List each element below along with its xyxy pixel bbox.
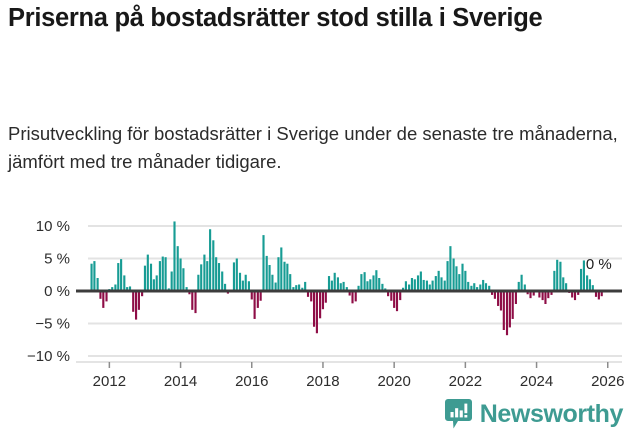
bar	[512, 291, 514, 319]
y-tick-label: −10 %	[27, 348, 70, 365]
bar	[328, 276, 330, 291]
bar	[351, 291, 353, 303]
bar	[283, 262, 285, 291]
bar	[544, 291, 546, 304]
bar	[556, 260, 558, 291]
bar	[165, 257, 167, 291]
bar	[438, 271, 440, 291]
bar	[393, 291, 395, 308]
bar	[360, 274, 362, 291]
bar	[138, 291, 140, 310]
bar	[93, 261, 95, 291]
newsworthy-wordmark: Newsworthy	[480, 402, 623, 427]
bar	[177, 246, 179, 291]
bar	[97, 278, 99, 291]
bar-chart: 20122014201620182020202220242026 10 %5 %…	[0, 208, 631, 393]
bar	[319, 291, 321, 318]
bar	[233, 262, 235, 291]
bar	[316, 291, 318, 333]
bar	[372, 275, 374, 291]
bar	[337, 277, 339, 291]
bar	[203, 255, 205, 291]
x-tick-label: 2014	[164, 373, 197, 390]
bar	[173, 221, 175, 291]
page-subtitle: Prisutveckling för bostadsrätter i Sveri…	[8, 120, 631, 176]
bar	[453, 259, 455, 292]
bar	[90, 264, 92, 291]
bar	[435, 276, 437, 291]
bar	[355, 291, 357, 301]
bar	[257, 291, 259, 308]
bar	[461, 264, 463, 291]
bar	[322, 291, 324, 309]
chart-svg: 20122014201620182020202220242026 10 %5 %…	[0, 208, 631, 393]
bar	[262, 235, 264, 291]
bar	[449, 246, 451, 291]
bar	[464, 271, 466, 291]
bar	[515, 291, 517, 304]
bar	[553, 271, 555, 291]
bar	[194, 291, 196, 313]
bar	[218, 263, 220, 291]
x-tick-label: 2018	[306, 373, 339, 390]
chart-bars	[90, 221, 602, 335]
bar	[364, 272, 366, 291]
bar	[215, 257, 217, 291]
bar	[123, 275, 125, 291]
bar	[266, 256, 268, 291]
bar	[589, 279, 591, 291]
chart-y-axis-labels: 10 %5 %0 %−5 %−10 %	[27, 218, 70, 365]
bar	[440, 277, 442, 291]
bar	[509, 291, 511, 327]
chart-annotations: 0 %	[586, 256, 612, 273]
bar	[310, 291, 312, 301]
y-tick-label: 0 %	[44, 283, 70, 300]
bar	[583, 260, 585, 291]
x-tick-label: 2024	[520, 373, 553, 390]
bar	[414, 279, 416, 291]
bar	[396, 291, 398, 311]
bar	[132, 291, 134, 312]
bar	[580, 269, 582, 291]
x-tick-label: 2016	[235, 373, 268, 390]
bar	[182, 268, 184, 291]
bar	[423, 280, 425, 291]
bar	[455, 266, 457, 291]
y-tick-label: 5 %	[44, 251, 70, 268]
bar	[562, 277, 564, 291]
bar	[432, 281, 434, 291]
bar	[221, 272, 223, 292]
footer: Newsworthy	[0, 396, 631, 439]
bar	[236, 259, 238, 292]
bar	[444, 281, 446, 291]
bar	[191, 291, 193, 310]
bar	[150, 264, 152, 291]
bar	[212, 240, 214, 291]
bar	[277, 257, 279, 291]
bar	[331, 281, 333, 291]
bar	[156, 275, 158, 291]
bar	[268, 265, 270, 291]
bar	[334, 273, 336, 291]
x-tick-label: 2012	[93, 373, 126, 390]
y-tick-label: 10 %	[36, 218, 70, 235]
chart-x-axis: 20122014201620182020202220242026	[76, 362, 624, 390]
bar	[171, 272, 173, 292]
x-tick-label: 2020	[377, 373, 410, 390]
bar	[179, 259, 181, 292]
bar	[105, 291, 107, 301]
bar	[420, 272, 422, 292]
bar	[159, 261, 161, 291]
bar	[417, 275, 419, 291]
bar-chart-bubble-icon	[445, 399, 472, 429]
bar	[503, 291, 505, 330]
y-tick-label: −5 %	[35, 316, 70, 333]
bar	[102, 291, 104, 308]
bar	[245, 275, 247, 291]
bar	[286, 264, 288, 291]
bar	[271, 275, 273, 291]
bar	[206, 261, 208, 291]
bar	[135, 291, 137, 320]
bar	[458, 274, 460, 291]
bar	[497, 291, 499, 306]
bar	[120, 259, 122, 291]
bar	[506, 291, 508, 335]
bar	[482, 280, 484, 291]
bar	[153, 279, 155, 291]
bar	[313, 291, 315, 327]
value-annotation: 0 %	[586, 256, 612, 273]
bar	[446, 261, 448, 291]
bar	[289, 274, 291, 291]
x-tick-label: 2022	[449, 373, 482, 390]
newsworthy-logo: Newsworthy	[445, 399, 623, 429]
bar	[369, 279, 371, 291]
bar	[280, 247, 282, 291]
bar	[117, 263, 119, 291]
bar	[242, 281, 244, 291]
bar	[200, 264, 202, 291]
bar	[559, 262, 561, 291]
bar	[426, 281, 428, 291]
bar	[254, 291, 256, 319]
page-title: Priserna på bostadsrätter stod stilla i …	[8, 2, 624, 36]
bar	[586, 275, 588, 291]
bar	[239, 273, 241, 291]
bar	[197, 275, 199, 291]
bar	[209, 229, 211, 291]
bar	[500, 291, 502, 311]
bar	[411, 278, 413, 291]
bar	[521, 275, 523, 291]
bar	[162, 257, 164, 291]
bar	[378, 278, 380, 291]
bar	[325, 291, 327, 303]
bar	[147, 255, 149, 291]
x-tick-label: 2026	[591, 373, 624, 390]
bar	[375, 270, 377, 291]
bar	[144, 266, 146, 291]
